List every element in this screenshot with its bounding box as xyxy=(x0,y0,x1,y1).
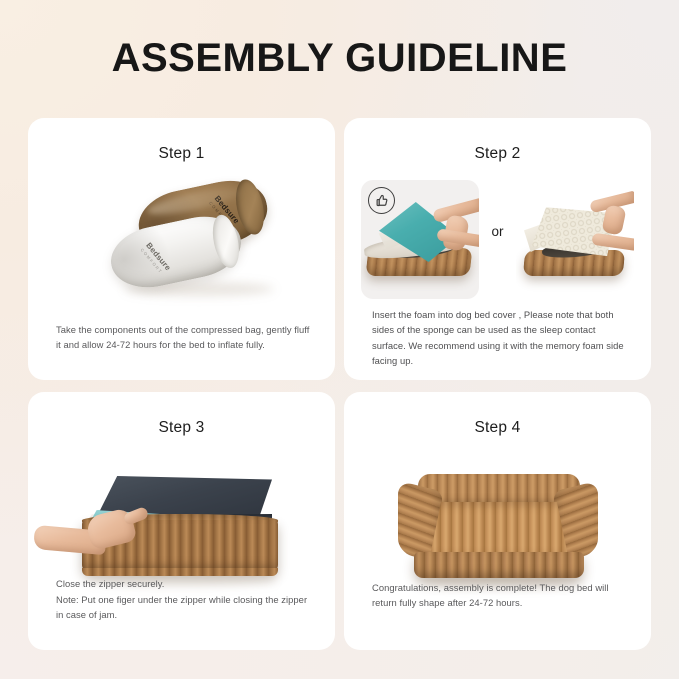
step-card-1: Step 1 BedsureCOMFORT BedsureCOMFORT Tak… xyxy=(28,118,335,380)
white-roll-brand: BedsureCOMFORT xyxy=(140,241,173,276)
step-2-artwork: or xyxy=(361,180,634,299)
finished-dog-bed xyxy=(396,468,600,598)
step-2-option-memory-foam xyxy=(516,180,634,299)
step-2-option-teal xyxy=(361,180,479,299)
bed-sleeping-cushion xyxy=(430,502,568,556)
step-2-caption: Insert the foam into dog bed cover , Ple… xyxy=(372,307,629,368)
step-2-separator: or xyxy=(479,224,516,239)
step-1-caption: Take the components out of the compresse… xyxy=(56,322,313,352)
thumbs-up-icon xyxy=(368,187,395,214)
steps-grid: Step 1 BedsureCOMFORT BedsureCOMFORT Tak… xyxy=(28,118,651,650)
step-card-4: Step 4 Congratulations, assembly is comp… xyxy=(344,392,651,650)
step-4-heading: Step 4 xyxy=(344,419,651,437)
step-3-heading: Step 3 xyxy=(28,419,335,437)
step-1-artwork: BedsureCOMFORT BedsureCOMFORT xyxy=(28,178,335,303)
step-2-heading: Step 2 xyxy=(344,145,651,163)
step-card-3: Step 3 Close the zipper securely. Note: … xyxy=(28,392,335,650)
assembly-guideline-page: ASSEMBLY GUIDELINE Step 1 BedsureCOMFORT… xyxy=(0,0,679,679)
step-card-2: Step 2 xyxy=(344,118,651,380)
page-title: ASSEMBLY GUIDELINE xyxy=(0,36,679,81)
step-3-caption: Close the zipper securely. Note: Put one… xyxy=(56,576,313,622)
step-4-artwork xyxy=(344,468,651,598)
white-roll-tagline: COMFORT xyxy=(140,247,165,276)
step-4-caption: Congratulations, assembly is complete! T… xyxy=(372,580,629,610)
step-1-heading: Step 1 xyxy=(28,145,335,163)
step-3-artwork xyxy=(28,470,335,590)
bed-front-edge xyxy=(414,552,584,578)
